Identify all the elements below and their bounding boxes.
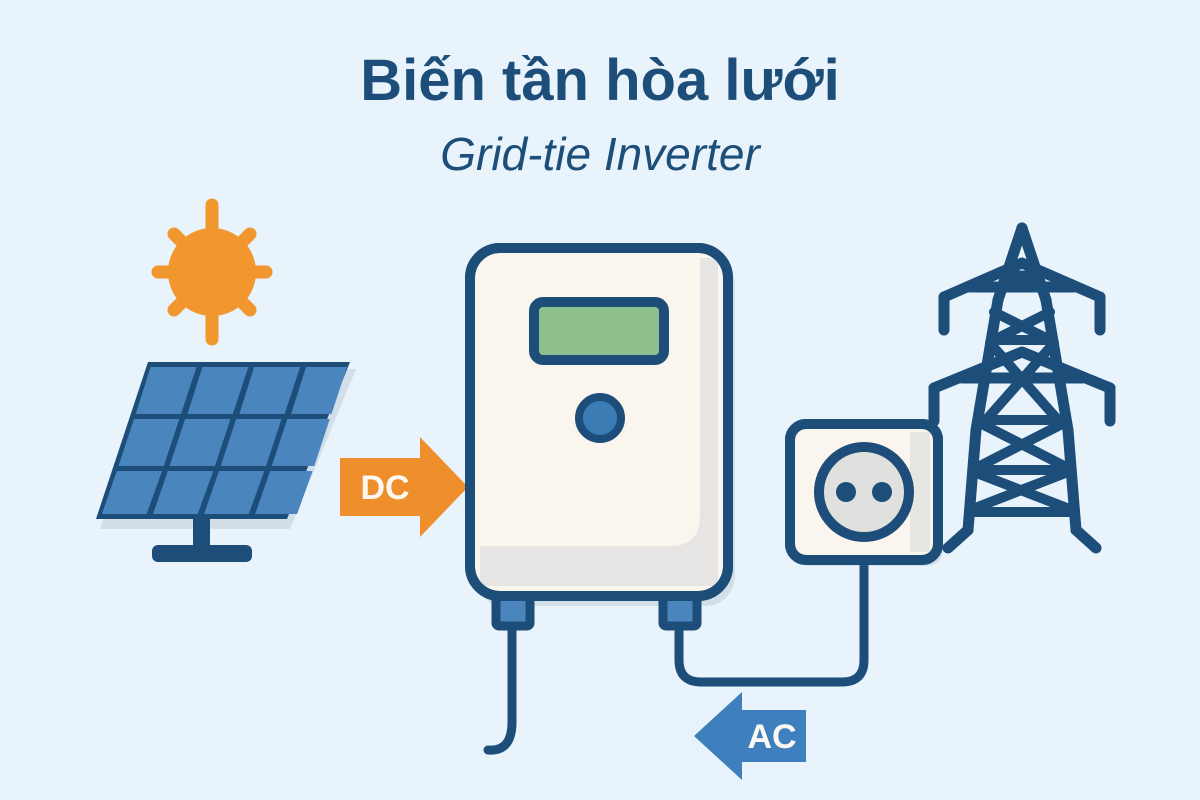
- transmission-tower-icon: [0, 0, 1200, 800]
- diagram-canvas: Biến tần hòa lưới Grid-tie Inverter: [0, 0, 1200, 800]
